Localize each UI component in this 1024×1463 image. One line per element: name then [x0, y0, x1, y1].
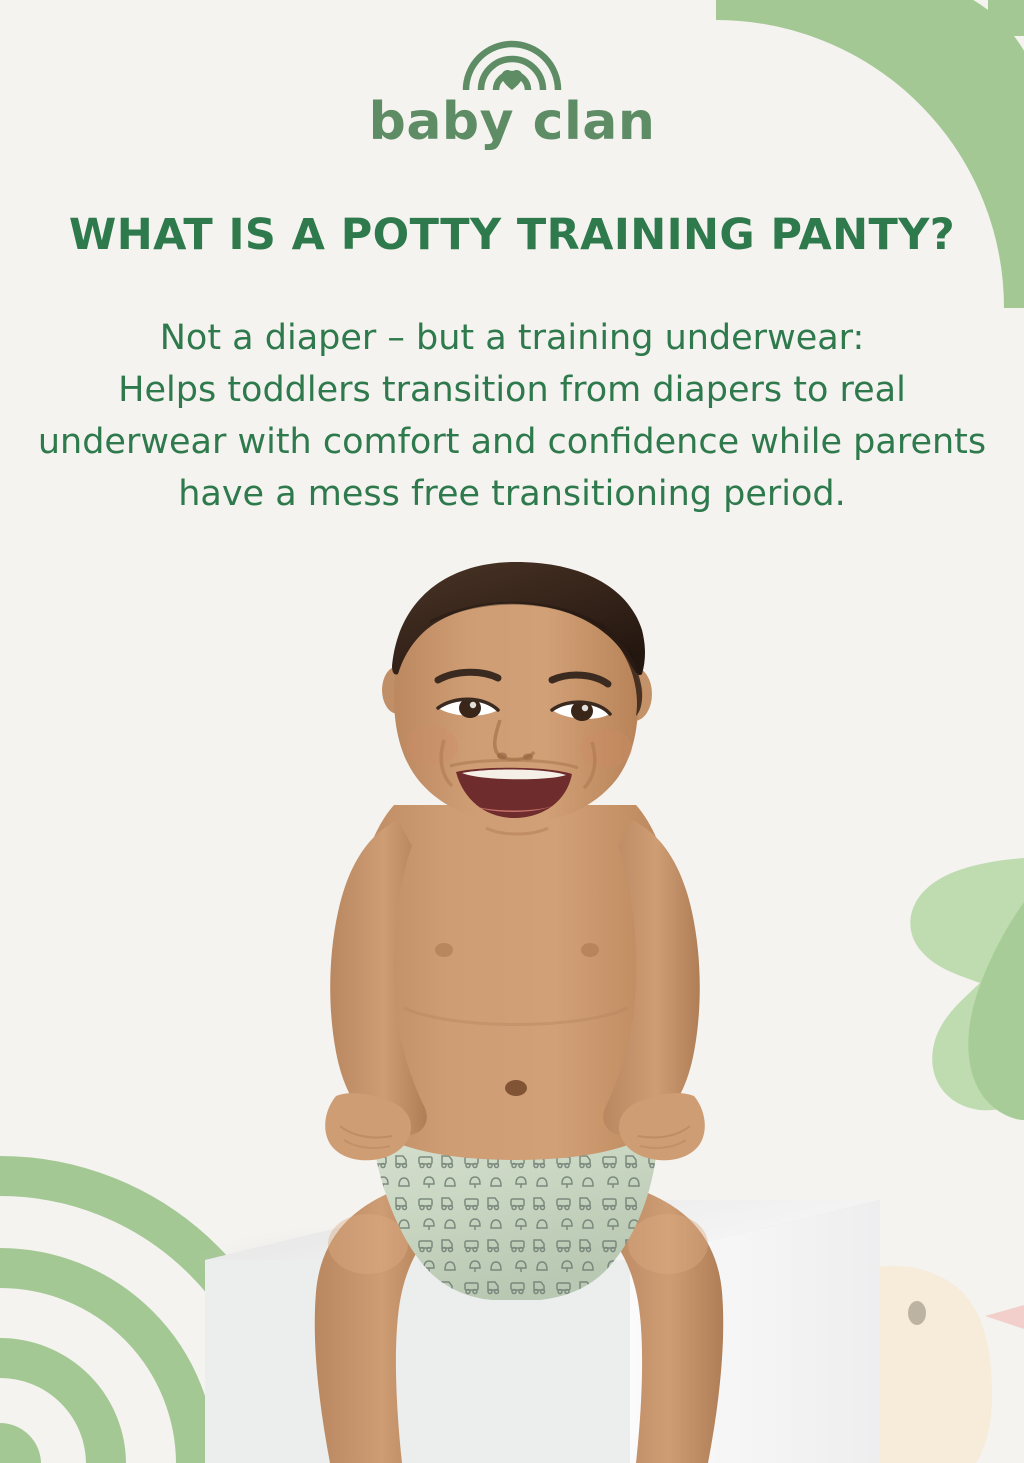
- toddler-photo-illustration: [0, 560, 1024, 1463]
- brand-logo: baby clan: [0, 26, 1024, 148]
- rainbow-heart-icon: [460, 26, 564, 92]
- poster-canvas: baby clan WHAT IS A POTTY TRAINING PANTY…: [0, 0, 1024, 1463]
- body-line-3: underwear with comfort and confidence wh…: [18, 416, 1006, 468]
- body-line-2: Helps toddlers transition from diapers t…: [18, 364, 1006, 416]
- navel: [505, 1080, 527, 1096]
- page-title: WHAT IS A POTTY TRAINING PANTY?: [0, 212, 1024, 259]
- body-line-4: have a mess free transitioning period.: [18, 468, 1006, 520]
- body-description: Not a diaper – but a training underwear:…: [18, 312, 1006, 520]
- heart-icon: [502, 70, 523, 90]
- hero-photo: [0, 560, 1024, 1463]
- body-line-1: Not a diaper – but a training underwear:: [18, 312, 1006, 364]
- brand-wordmark: baby clan: [369, 96, 656, 148]
- toddler-head: [382, 562, 652, 834]
